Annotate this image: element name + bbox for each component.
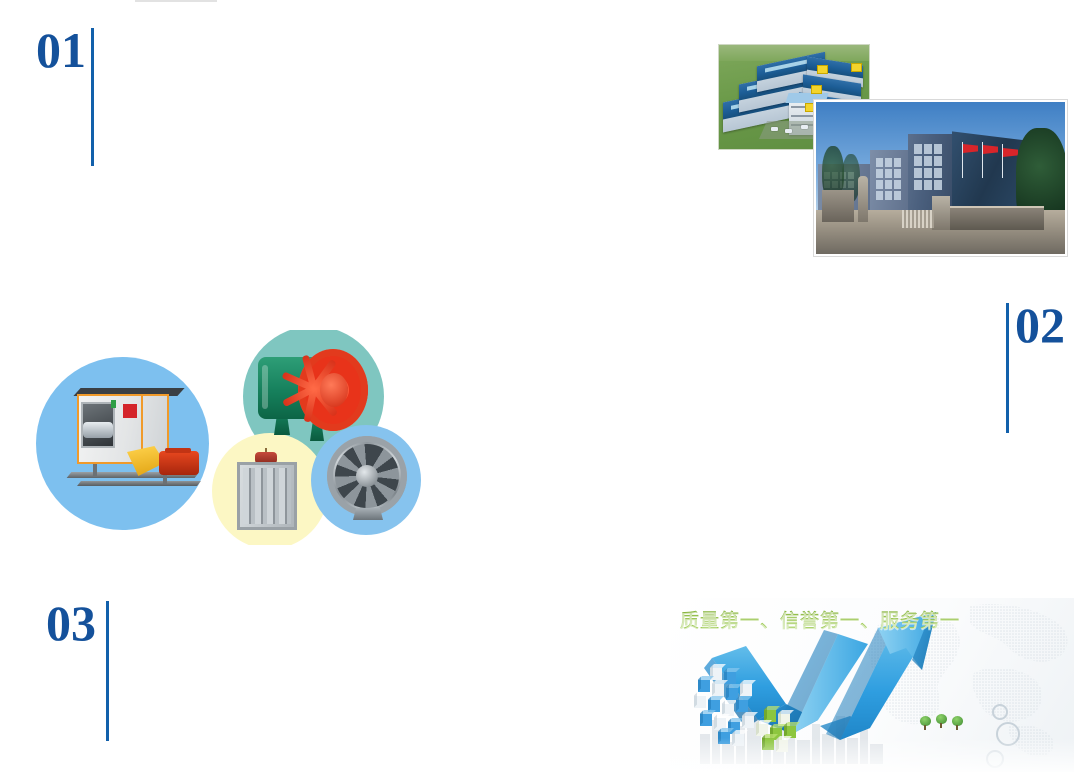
tree-icon [952,716,963,730]
window-grid [876,158,901,200]
section-rule-03 [106,601,109,741]
page-canvas: 01 02 03 [0,0,1074,772]
roof-marker-tag [851,63,862,72]
perimeter-wall [944,206,1044,230]
office-building-photo [814,100,1067,256]
section-number-03: 03 [46,598,96,648]
fan-base-rail [77,481,201,486]
damper-blades [243,468,291,524]
section-number-01: 01 [36,25,86,75]
product-collage [36,330,421,545]
fan-hub [356,465,378,487]
guard-booth [822,190,854,222]
window-grid [914,144,942,190]
yard-vehicle [785,129,792,133]
status-lamp [111,400,116,408]
yard-vehicle [801,125,808,129]
roof-marker-tag [817,65,828,74]
cabinet-centrifugal-fan [63,388,198,496]
metal-axial-fan [323,434,415,522]
section-marker-02: 02 [1006,300,1065,433]
control-panel [123,404,137,418]
tree-icon [936,714,947,728]
tree-icon [920,716,931,730]
fan-support-leg [353,508,383,520]
top-hairline [135,0,217,2]
floor-reflection [670,738,1074,772]
section-marker-03: 03 [46,598,109,741]
axial-flow-fan [258,347,370,443]
electric-motor [159,451,199,475]
flag-pole [1002,144,1003,178]
slogan-text: 质量第一、信誉第一、服务第一 [680,606,960,633]
flag-pole [982,142,983,178]
roof-marker-tag [811,85,822,94]
gate-house [932,196,950,230]
section-marker-01: 01 [36,25,94,166]
impeller-wheel [83,422,113,438]
growth-arrow-graphic: 质量第一、信誉第一、服务第一 [670,598,1074,772]
impeller-hub [320,373,348,407]
section-rule-02 [1006,303,1009,433]
yard-vehicle [771,127,778,131]
fan-leg [93,464,97,476]
entrance-gate [902,210,934,228]
fire-damper-valve [231,448,303,534]
flag-pole [962,142,963,178]
bubble-small [992,704,1008,720]
section-rule-01 [91,28,94,166]
light-post [858,176,868,222]
section-number-02: 02 [1015,300,1065,350]
